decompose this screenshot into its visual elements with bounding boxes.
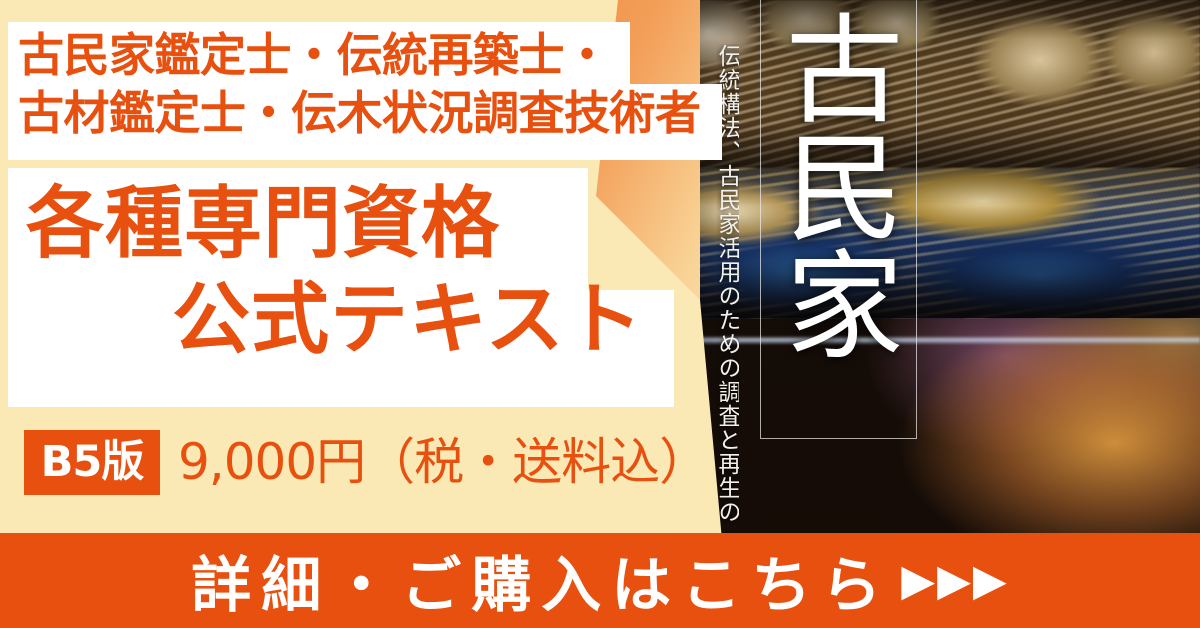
headline-line-2: 公式テキスト xyxy=(8,272,688,368)
triple-arrow-right-icon: ▶▶▶ xyxy=(901,555,1009,606)
price-text: 9,000円（税・送料込） xyxy=(178,430,708,495)
headline-line-1: 各種専門資格 xyxy=(8,176,688,272)
format-badge: B5版 xyxy=(24,430,160,495)
qualifications-line-2: 古材鑑定士・伝木状況調査技術者 xyxy=(18,84,724,142)
qualifications-text: 古民家鑑定士・伝統再築士・ 古材鑑定士・伝木状況調査技術者 xyxy=(18,26,724,142)
book-cover-title: 古民家 xyxy=(778,8,898,362)
qualifications-line-1: 古民家鑑定士・伝統再築士・ xyxy=(18,26,724,84)
cta-label: 詳細・ご購入はこちら xyxy=(191,537,897,624)
headline: 各種専門資格 公式テキスト xyxy=(8,176,688,368)
promo-banner: 伝統構法、古民家活用のための調査と再生の 古民家 古民家鑑定士・伝統再築士・ 古… xyxy=(0,0,1200,628)
cta-button[interactable]: 詳細・ご購入はこちら ▶▶▶ xyxy=(0,533,1200,628)
